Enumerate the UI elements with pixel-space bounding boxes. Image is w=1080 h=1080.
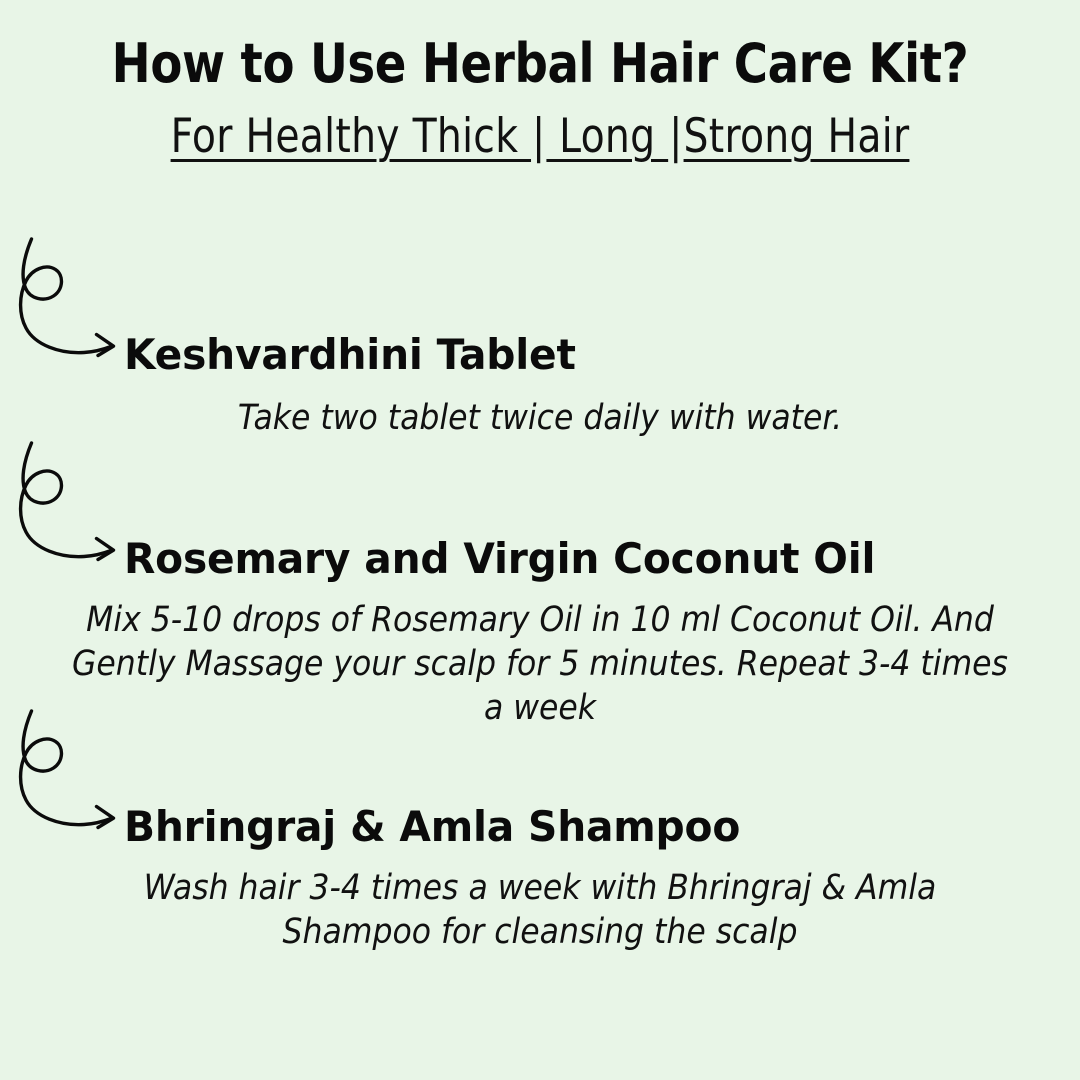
subtitle-part-3: Strong Hair [684, 109, 910, 164]
step-description: Take two tablet twice daily with water. [90, 396, 990, 440]
step-heading: Keshvardhini Tablet [124, 330, 576, 380]
poster-header: How to Use Herbal Hair Care Kit? For Hea… [0, 0, 1080, 165]
subtitle-part-2: Long [546, 109, 668, 164]
page-title: How to Use Herbal Hair Care Kit? [22, 0, 1059, 95]
step-description: Wash hair 3-4 times a week with Bhringra… [65, 866, 1015, 954]
page-subtitle: For Healthy Thick | Long |Strong Hair [38, 95, 1042, 165]
curly-loop-arrow-icon [8, 236, 128, 366]
step-description: Mix 5-10 drops of Rosemary Oil in 10 ml … [65, 598, 1015, 730]
curly-loop-arrow-icon [8, 440, 128, 570]
step-heading: Bhringraj & Amla Shampoo [124, 802, 740, 852]
poster-canvas: How to Use Herbal Hair Care Kit? For Hea… [0, 0, 1080, 1080]
step-heading: Rosemary and Virgin Coconut Oil [124, 534, 875, 584]
subtitle-separator-2: | [668, 109, 683, 164]
subtitle-part-1: For Healthy Thick [171, 109, 531, 164]
subtitle-separator-1: | [531, 109, 546, 164]
